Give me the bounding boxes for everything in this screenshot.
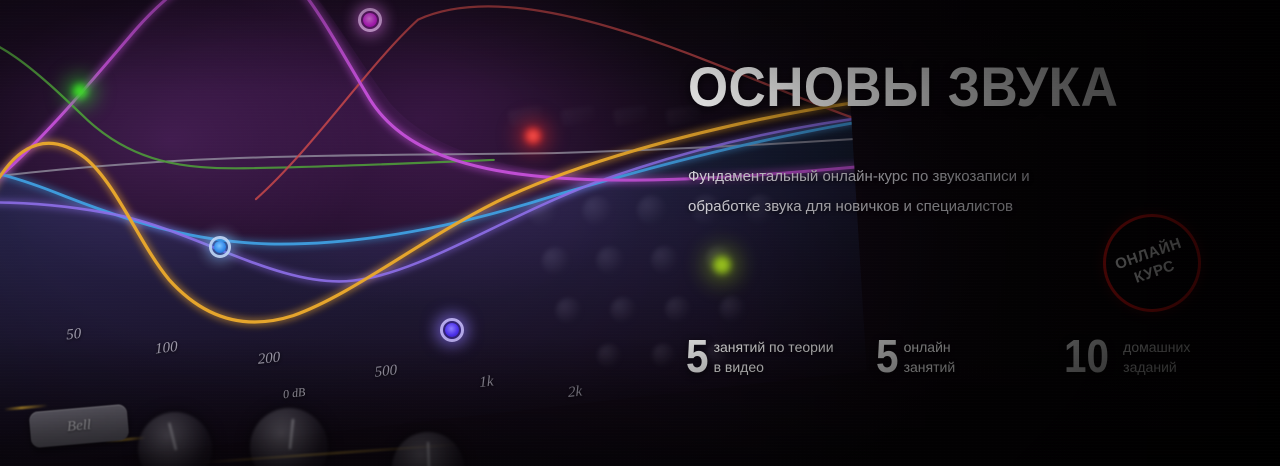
vignette-overlay [0,0,1280,466]
hero-banner: 50 100 200 500 1k 2k Bell [0,0,1280,466]
